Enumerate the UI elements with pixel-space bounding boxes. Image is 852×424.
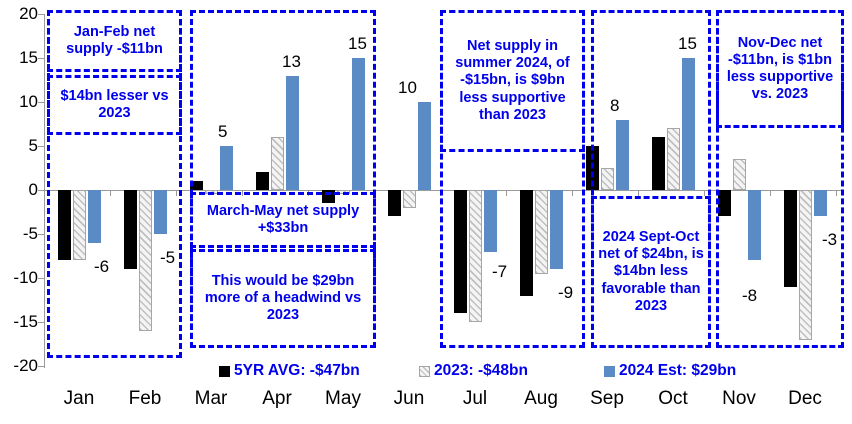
legend-swatch-icon-5yr-avg (219, 366, 230, 377)
legend-label-2023: 2023: -$48bn (434, 362, 528, 380)
legend-swatch-icon-2024-est (604, 366, 615, 377)
x-label-jul: Jul (445, 388, 505, 410)
legend-label-2024-est: 2024 Est: $29bn (619, 362, 736, 380)
y-tick-label-10: 10 (0, 92, 38, 112)
annotation-summer-text: Net supply in summer 2024, of -$15bn, is… (440, 10, 585, 152)
x-label-feb: Feb (115, 388, 175, 410)
legend: 5YR AVG: -$47bn 2023: -$48bn 2024 Est: $… (0, 358, 852, 384)
y-tick-mark (38, 278, 44, 279)
bar-2024-est (418, 102, 431, 190)
legend-swatch-icon-2023 (419, 366, 430, 377)
x-label-sep: Sep (577, 388, 637, 410)
y-tick-mark (38, 234, 44, 235)
y-axis-line (44, 14, 45, 368)
y-tick-label-neg5: -5 (0, 224, 38, 244)
x-label-jun: Jun (379, 388, 439, 410)
x-label-dec: Dec (775, 388, 835, 410)
data-label-jun: 10 (398, 78, 417, 98)
y-tick-label-0: 0 (0, 180, 38, 200)
x-label-may: May (313, 388, 373, 410)
annotation-nov-dec-text: Nov-Dec net -$11bn, is $1bn less support… (716, 10, 844, 128)
legend-label-5yr-avg: 5YR AVG: -$47bn (234, 362, 360, 380)
legend-item-2023[interactable]: 2023: -$48bn (419, 362, 528, 380)
annotation-jan-feb-title: Jan-Feb net supply -$11bn (47, 10, 182, 72)
y-tick-label-neg15: -15 (0, 312, 38, 332)
annotation-sept-oct-text: 2024 Sept-Oct net of $24bn, is $14bn les… (591, 196, 711, 348)
y-tick-mark (38, 58, 44, 59)
y-tick-mark (38, 146, 44, 147)
y-tick-mark (38, 14, 44, 15)
annotation-mar-may-title: March-May net supply +$33bn (190, 192, 376, 248)
y-tick-label-20: 20 (0, 4, 38, 24)
x-label-jan: Jan (49, 388, 109, 410)
x-label-nov: Nov (709, 388, 769, 410)
bar-5yr-avg (388, 190, 401, 216)
y-tick-label-neg10: -10 (0, 268, 38, 288)
y-tick-mark (38, 322, 44, 323)
legend-item-5yr-avg[interactable]: 5YR AVG: -$47bn (219, 362, 360, 380)
y-tick-label-15: 15 (0, 48, 38, 68)
x-label-mar: Mar (181, 388, 241, 410)
y-tick-label-5: 5 (0, 136, 38, 156)
x-label-oct: Oct (643, 388, 703, 410)
chart-root: 20 15 10 5 0 -5 -10 -15 -20 -6-55131510- (0, 0, 852, 424)
annotation-mar-may-sub: This would be $29bn more of a headwind v… (190, 249, 376, 348)
x-label-aug: Aug (511, 388, 571, 410)
annotation-jan-feb-sub: $14bn lesser vs 2023 (47, 75, 182, 135)
y-tick-mark (38, 102, 44, 103)
bar-2023 (403, 190, 416, 208)
x-label-apr: Apr (247, 388, 307, 410)
legend-item-2024-est[interactable]: 2024 Est: $29bn (604, 362, 736, 380)
